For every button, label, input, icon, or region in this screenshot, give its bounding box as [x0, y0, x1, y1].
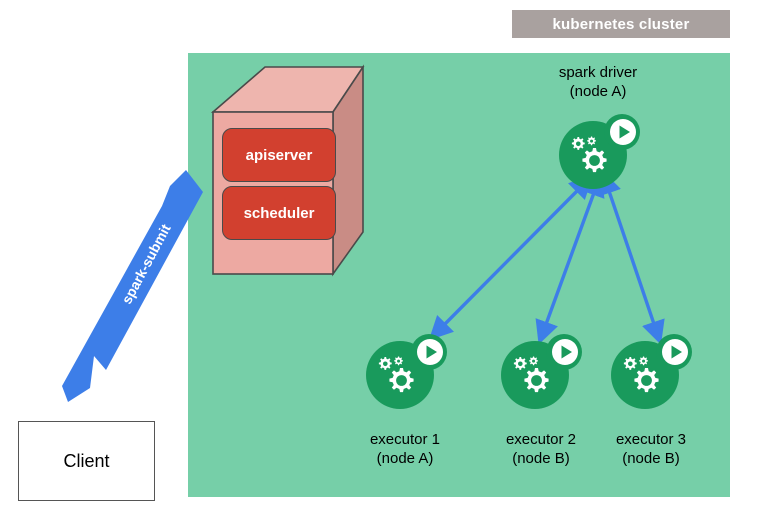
executor-1-label: executor 1 (node A) — [334, 430, 476, 468]
executor-1-name: executor 1 — [334, 430, 476, 449]
executor-3-name: executor 3 — [580, 430, 722, 449]
executor-3-label: executor 3 (node B) — [580, 430, 722, 468]
executor-1-node[interactable] — [360, 333, 450, 411]
executor-3-node[interactable] — [605, 333, 695, 411]
spark-driver-label: spark driver (node A) — [528, 63, 668, 101]
client-label: Client — [63, 451, 109, 472]
executor-2-node[interactable] — [495, 333, 585, 411]
client-box[interactable]: Client — [18, 421, 155, 501]
executor-1-node-id: (node A) — [334, 449, 476, 468]
cluster-title-label: kubernetes cluster — [553, 16, 690, 33]
play-icon[interactable] — [662, 339, 688, 365]
scheduler-component[interactable]: scheduler — [222, 186, 336, 240]
play-icon[interactable] — [610, 119, 636, 145]
play-icon[interactable] — [417, 339, 443, 365]
spark-submit-label: spark-submit — [109, 206, 183, 321]
spark-driver-node[interactable] — [553, 113, 643, 191]
apiserver-component[interactable]: apiserver — [222, 128, 336, 182]
spark-driver-name: spark driver — [528, 63, 668, 82]
scheduler-label: scheduler — [244, 205, 315, 222]
executor-3-node-id: (node B) — [580, 449, 722, 468]
apiserver-label: apiserver — [246, 147, 313, 164]
play-icon[interactable] — [552, 339, 578, 365]
cluster-title-banner: kubernetes cluster — [512, 10, 730, 38]
spark-driver-node-id: (node A) — [528, 82, 668, 101]
